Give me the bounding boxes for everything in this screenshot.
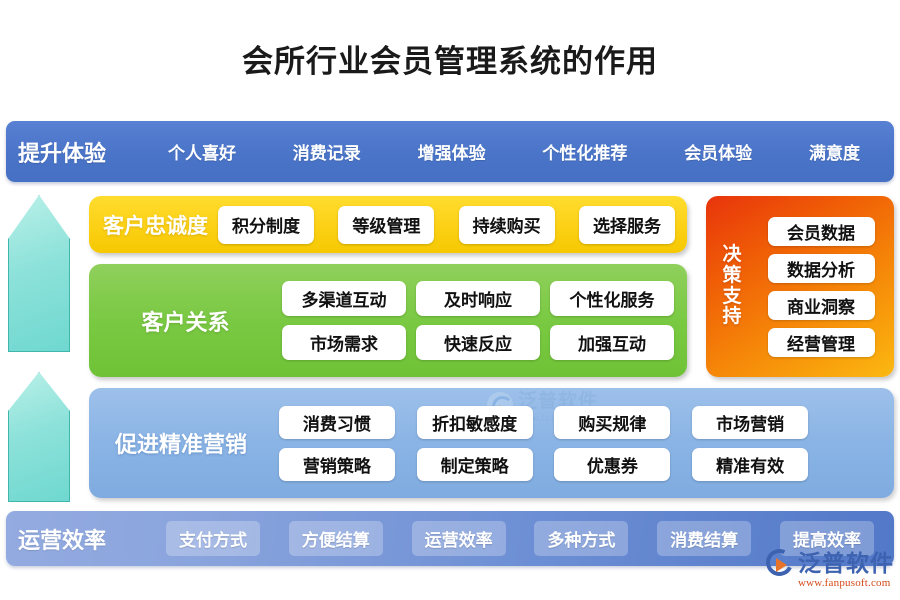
top-band-label: 提升体验 (18, 136, 168, 168)
marketing-chip[interactable]: 优惠券 (554, 448, 670, 481)
top-band-item[interactable]: 满意度 (809, 139, 860, 164)
relations-block-items: 多渠道互动 及时响应 个性化服务 市场需求 快速反应 加强互动 (282, 281, 687, 360)
relations-chip[interactable]: 个性化服务 (550, 281, 674, 316)
marketing-chip[interactable]: 市场营销 (692, 406, 808, 439)
decision-label-char: 策 (722, 266, 741, 287)
decision-label-char: 持 (722, 307, 741, 328)
arrow-up-icon (8, 195, 70, 352)
top-band-items: 个人喜好 消费记录 增强体验 个性化推荐 会员体验 满意度 (168, 139, 894, 164)
relations-chip[interactable]: 快速反应 (416, 325, 540, 360)
bottom-band-pill[interactable]: 方便结算 (289, 521, 383, 556)
relations-chip[interactable]: 市场需求 (282, 325, 406, 360)
marketing-chip[interactable]: 消费习惯 (279, 406, 395, 439)
top-band-row[interactable]: 提升体验 个人喜好 消费记录 增强体验 个性化推荐 会员体验 满意度 (6, 121, 894, 182)
marketing-chip[interactable]: 折扣敏感度 (417, 406, 533, 439)
decision-support-items: 会员数据 数据分析 商业洞察 经营管理 (758, 217, 894, 357)
loyalty-chip[interactable]: 等级管理 (338, 206, 434, 244)
brand-url: www.fanpusoft.com (798, 577, 891, 589)
relations-chip[interactable]: 多渠道互动 (282, 281, 406, 316)
marketing-block[interactable]: 泛普软件 www.fanpusoft.com 促进精准营销 消费习惯 折扣敏感度… (89, 388, 894, 498)
loyalty-row[interactable]: 客户忠诚度 积分制度 等级管理 持续购买 选择服务 (89, 196, 687, 253)
loyalty-row-items: 积分制度 等级管理 持续购买 选择服务 (218, 206, 687, 244)
decision-chip[interactable]: 经营管理 (768, 328, 875, 357)
loyalty-chip[interactable]: 持续购买 (459, 206, 555, 244)
relations-block[interactable]: 客户关系 多渠道互动 及时响应 个性化服务 市场需求 快速反应 加强互动 (89, 264, 687, 377)
infographic-canvas: 会所行业会员管理系统的作用 提升体验 个人喜好 消费记录 增强体验 个性化推荐 … (0, 0, 900, 600)
bottom-band-pill[interactable]: 多种方式 (534, 521, 628, 556)
decision-support-panel[interactable]: 决 策 支 持 会员数据 数据分析 商业洞察 经营管理 (706, 196, 894, 377)
relations-block-label: 客户关系 (89, 305, 282, 337)
top-band-item[interactable]: 增强体验 (418, 139, 486, 164)
top-band-item[interactable]: 消费记录 (293, 139, 361, 164)
loyalty-row-label: 客户忠诚度 (103, 210, 208, 240)
decision-chip[interactable]: 商业洞察 (768, 291, 875, 320)
marketing-block-label: 促进精准营销 (89, 427, 273, 459)
marketing-chip[interactable]: 制定策略 (417, 448, 533, 481)
top-band-item[interactable]: 个性化推荐 (542, 139, 627, 164)
decision-chip[interactable]: 数据分析 (768, 254, 875, 283)
decision-label-char: 支 (722, 287, 741, 308)
top-band-item[interactable]: 个人喜好 (168, 139, 236, 164)
top-band-item[interactable]: 会员体验 (684, 139, 752, 164)
marketing-chip[interactable]: 营销策略 (279, 448, 395, 481)
bottom-band-pill[interactable]: 支付方式 (166, 521, 260, 556)
loyalty-chip[interactable]: 积分制度 (218, 206, 314, 244)
marketing-chip[interactable]: 购买规律 (554, 406, 670, 439)
bottom-band-pill[interactable]: 消费结算 (657, 521, 751, 556)
loyalty-chip[interactable]: 选择服务 (579, 206, 675, 244)
bottom-band-pill[interactable]: 提高效率 (780, 521, 874, 556)
page-title: 会所行业会员管理系统的作用 (0, 36, 900, 81)
decision-label-char: 决 (722, 245, 741, 266)
decision-chip[interactable]: 会员数据 (768, 217, 875, 246)
bottom-band-items: 支付方式 方便结算 运营效率 多种方式 消费结算 提高效率 (166, 521, 894, 556)
bottom-band-pill[interactable]: 运营效率 (412, 521, 506, 556)
bottom-band-row[interactable]: 运营效率 支付方式 方便结算 运营效率 多种方式 消费结算 提高效率 (6, 511, 894, 566)
decision-support-label: 决 策 支 持 (706, 245, 758, 327)
relations-chip[interactable]: 及时响应 (416, 281, 540, 316)
arrow-up-icon (8, 372, 70, 502)
marketing-chip[interactable]: 精准有效 (692, 448, 808, 481)
bottom-band-label: 运营效率 (18, 523, 166, 555)
marketing-block-items: 消费习惯 折扣敏感度 购买规律 市场营销 营销策略 制定策略 优惠券 精准有效 (273, 406, 894, 481)
relations-chip[interactable]: 加强互动 (550, 325, 674, 360)
